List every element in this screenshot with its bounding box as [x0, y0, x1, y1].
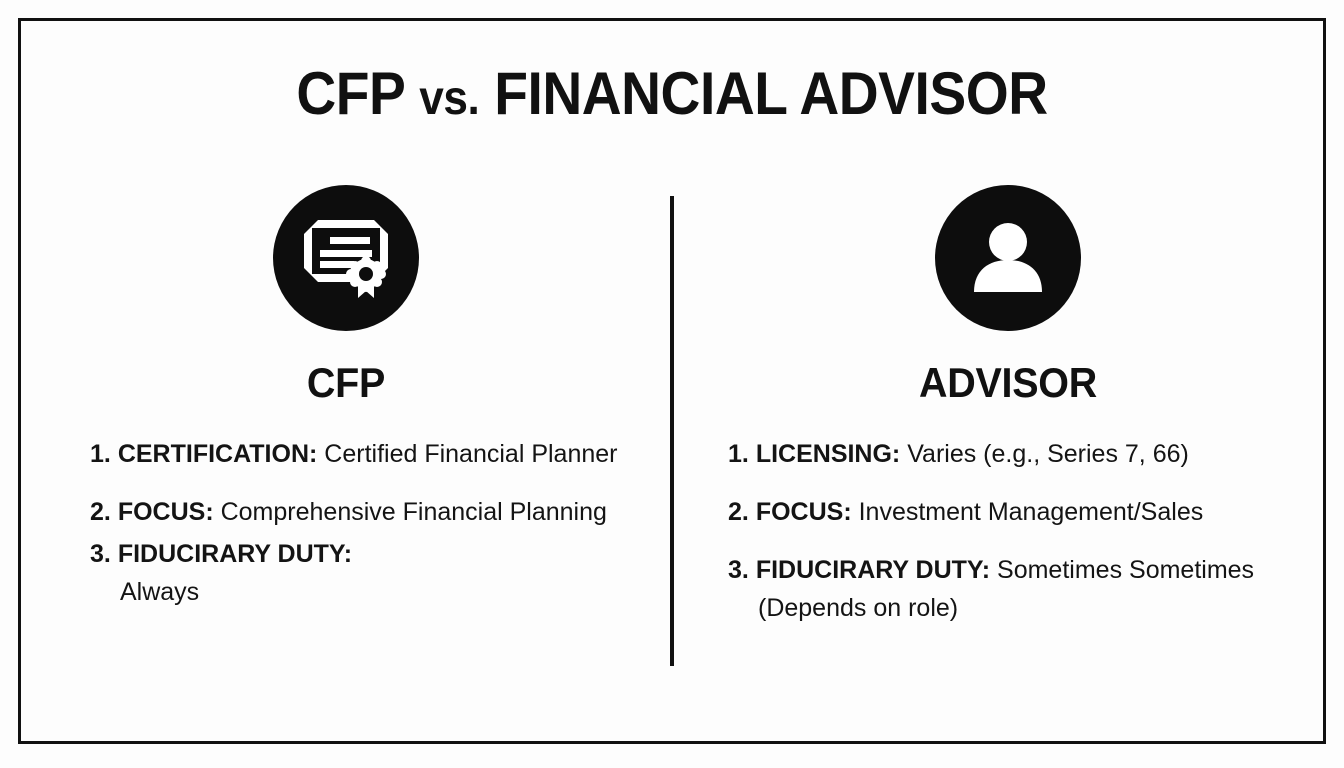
item-number: 1.: [90, 440, 111, 468]
advisor-item-list: 1. LICENSING: Varies (e.g., Series 7, 66…: [690, 435, 1326, 627]
item-number: 2.: [728, 498, 749, 526]
item-number: 3.: [90, 540, 111, 568]
cfp-item-list: 1. CERTIFICATION: Certified Financial Pl…: [28, 435, 664, 611]
cfp-heading: CFP: [47, 359, 645, 407]
item-value: Investment Management/Sales: [859, 498, 1204, 526]
list-item: 1. LICENSING: Varies (e.g., Series 7, 66…: [728, 435, 1316, 473]
column-divider: [670, 196, 674, 666]
item-value: Certified Financial Planner: [324, 440, 617, 468]
item-value: Varies (e.g., Series 7, 66): [907, 440, 1189, 468]
page-title: CFP vs. FINANCIAL ADVISOR: [54, 62, 1290, 131]
item-label: FIDUCIRARY DUTY:: [118, 540, 352, 568]
title-part-before: CFP: [296, 60, 404, 127]
list-item: 3. FIDUCIRARY DUTY: Sometimes Sometimes …: [728, 551, 1316, 627]
item-label: FOCUS:: [118, 498, 214, 526]
item-label: FOCUS:: [756, 498, 852, 526]
list-item: 1. CERTIFICATION: Certified Financial Pl…: [90, 435, 654, 473]
list-item: 2. FOCUS: Investment Management/Sales: [728, 493, 1316, 531]
list-item: 2. FOCUS: Comprehensive Financial Planni…: [90, 493, 654, 531]
advisor-icon-wrap: [690, 185, 1326, 337]
item-value: Always: [120, 578, 199, 606]
item-label: FIDUCIRARY DUTY:: [756, 556, 990, 584]
title-part-vs: vs.: [419, 72, 479, 125]
item-label: CERTIFICATION:: [118, 440, 318, 468]
item-label: LICENSING:: [756, 440, 900, 468]
item-number: 1.: [728, 440, 749, 468]
column-cfp: CFP 1. CERTIFICATION: Certified Financia…: [28, 185, 664, 615]
item-value: Comprehensive Financial Planning: [221, 498, 607, 526]
item-number: 2.: [90, 498, 111, 526]
item-number: 3.: [728, 556, 749, 584]
list-item: 3. FIDUCIRARY DUTY: Always: [90, 535, 654, 611]
cfp-icon-wrap: [28, 185, 664, 337]
certificate-icon: [273, 185, 419, 331]
infographic-canvas: CFP vs. FINANCIAL ADVISOR: [0, 0, 1344, 768]
person-icon: [935, 185, 1081, 331]
title-part-after: FINANCIAL ADVISOR: [494, 60, 1047, 127]
advisor-heading: ADVISOR: [709, 359, 1307, 407]
column-advisor: ADVISOR 1. LICENSING: Varies (e.g., Seri…: [690, 185, 1326, 627]
